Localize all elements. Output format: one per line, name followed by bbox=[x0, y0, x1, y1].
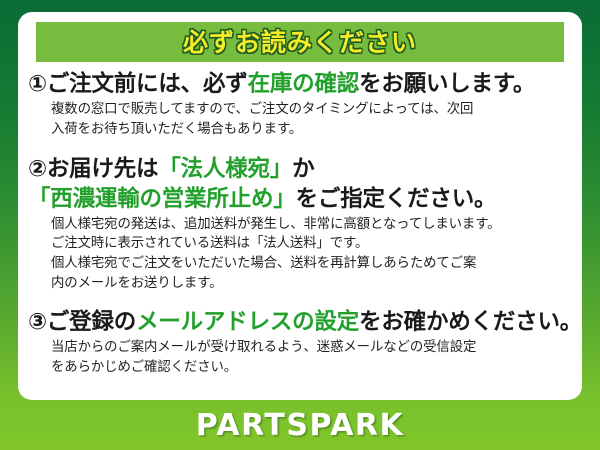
brand-logo-text: PARTSPARK bbox=[196, 408, 405, 443]
notice-item-body: 複数の窓口で販売してますので、ご注文のタイミングによっては、次回入荷をお待ち頂い… bbox=[28, 100, 574, 139]
notice-item-body-line: 個人様宅宛の発送は、追加送料が発生し、非常に高額となってしまいます。 bbox=[51, 215, 574, 235]
footer-logo-band: PARTSPARK bbox=[0, 400, 600, 450]
notice-item-body-line: をあらかじめご確認ください。 bbox=[51, 358, 574, 378]
highlighted-phrase: 「西濃運輸の営業所止め」 bbox=[28, 186, 296, 212]
heading-text: をご指定ください。 bbox=[296, 186, 497, 212]
heading-text: をお願いします。 bbox=[359, 71, 535, 97]
notice-item: ②お届け先は「法人様宛」か「西濃運輸の営業所止め」をご指定ください。個人様宅宛の… bbox=[18, 155, 582, 293]
heading-text: をお確かめください。 bbox=[359, 309, 582, 335]
highlighted-phrase: 在庫の確認 bbox=[248, 71, 360, 97]
notice-item-body-line: 個人様宅宛でご注文をいただいた場合、送料を再計算しあらためてご案 bbox=[51, 254, 574, 274]
notice-item-body-line: 当店からのご案内メールが受け取れるよう、迷惑メールなどの受信設定 bbox=[51, 338, 574, 358]
heading-text: か bbox=[292, 156, 314, 182]
notice-item-body-line: 複数の窓口で販売してますので、ご注文のタイミングによっては、次回 bbox=[51, 100, 574, 120]
notice-item-heading: ②お届け先は「法人様宛」か「西濃運輸の営業所止め」をご指定ください。 bbox=[28, 155, 574, 214]
notice-item-body-line: ご注文時に表示されている送料は「法人送料」です。 bbox=[51, 234, 574, 254]
header-banner: 必ずお読みください bbox=[36, 22, 564, 62]
highlighted-phrase: メールアドレスの設定 bbox=[136, 309, 359, 335]
header-title: 必ずお読みください bbox=[183, 30, 417, 55]
notice-item-body-line: 入荷をお待ち頂いただく場合もあります。 bbox=[51, 120, 574, 140]
content-sheet: 必ずお読みください ①ご注文前には、必ず在庫の確認をお願いします。複数の窓口で販… bbox=[18, 12, 582, 400]
notice-item: ①ご注文前には、必ず在庫の確認をお願いします。複数の窓口で販売してますので、ご注… bbox=[18, 70, 582, 139]
heading-text: ②お届け先は bbox=[28, 156, 158, 182]
notice-item-body: 当店からのご案内メールが受け取れるよう、迷惑メールなどの受信設定をあらかじめご確… bbox=[28, 338, 574, 377]
heading-text: ①ご注文前には、必ず bbox=[28, 71, 248, 97]
notice-item: ③ご登録のメールアドレスの設定をお確かめください。当店からのご案内メールが受け取… bbox=[18, 308, 582, 377]
highlighted-phrase: 「法人様宛」 bbox=[158, 156, 292, 182]
heading-text: ③ご登録の bbox=[28, 309, 136, 335]
notice-item-heading: ③ご登録のメールアドレスの設定をお確かめください。 bbox=[28, 308, 574, 337]
notice-card: 必ずお読みください ①ご注文前には、必ず在庫の確認をお願いします。複数の窓口で販… bbox=[0, 0, 600, 450]
notice-item-body-line: 内のメールをお送りします。 bbox=[51, 274, 574, 294]
notice-item-heading: ①ご注文前には、必ず在庫の確認をお願いします。 bbox=[28, 70, 574, 99]
notice-item-body: 個人様宅宛の発送は、追加送料が発生し、非常に高額となってしまいます。ご注文時に表… bbox=[28, 215, 574, 293]
notice-items-list: ①ご注文前には、必ず在庫の確認をお願いします。複数の窓口で販売してますので、ご注… bbox=[18, 70, 582, 378]
